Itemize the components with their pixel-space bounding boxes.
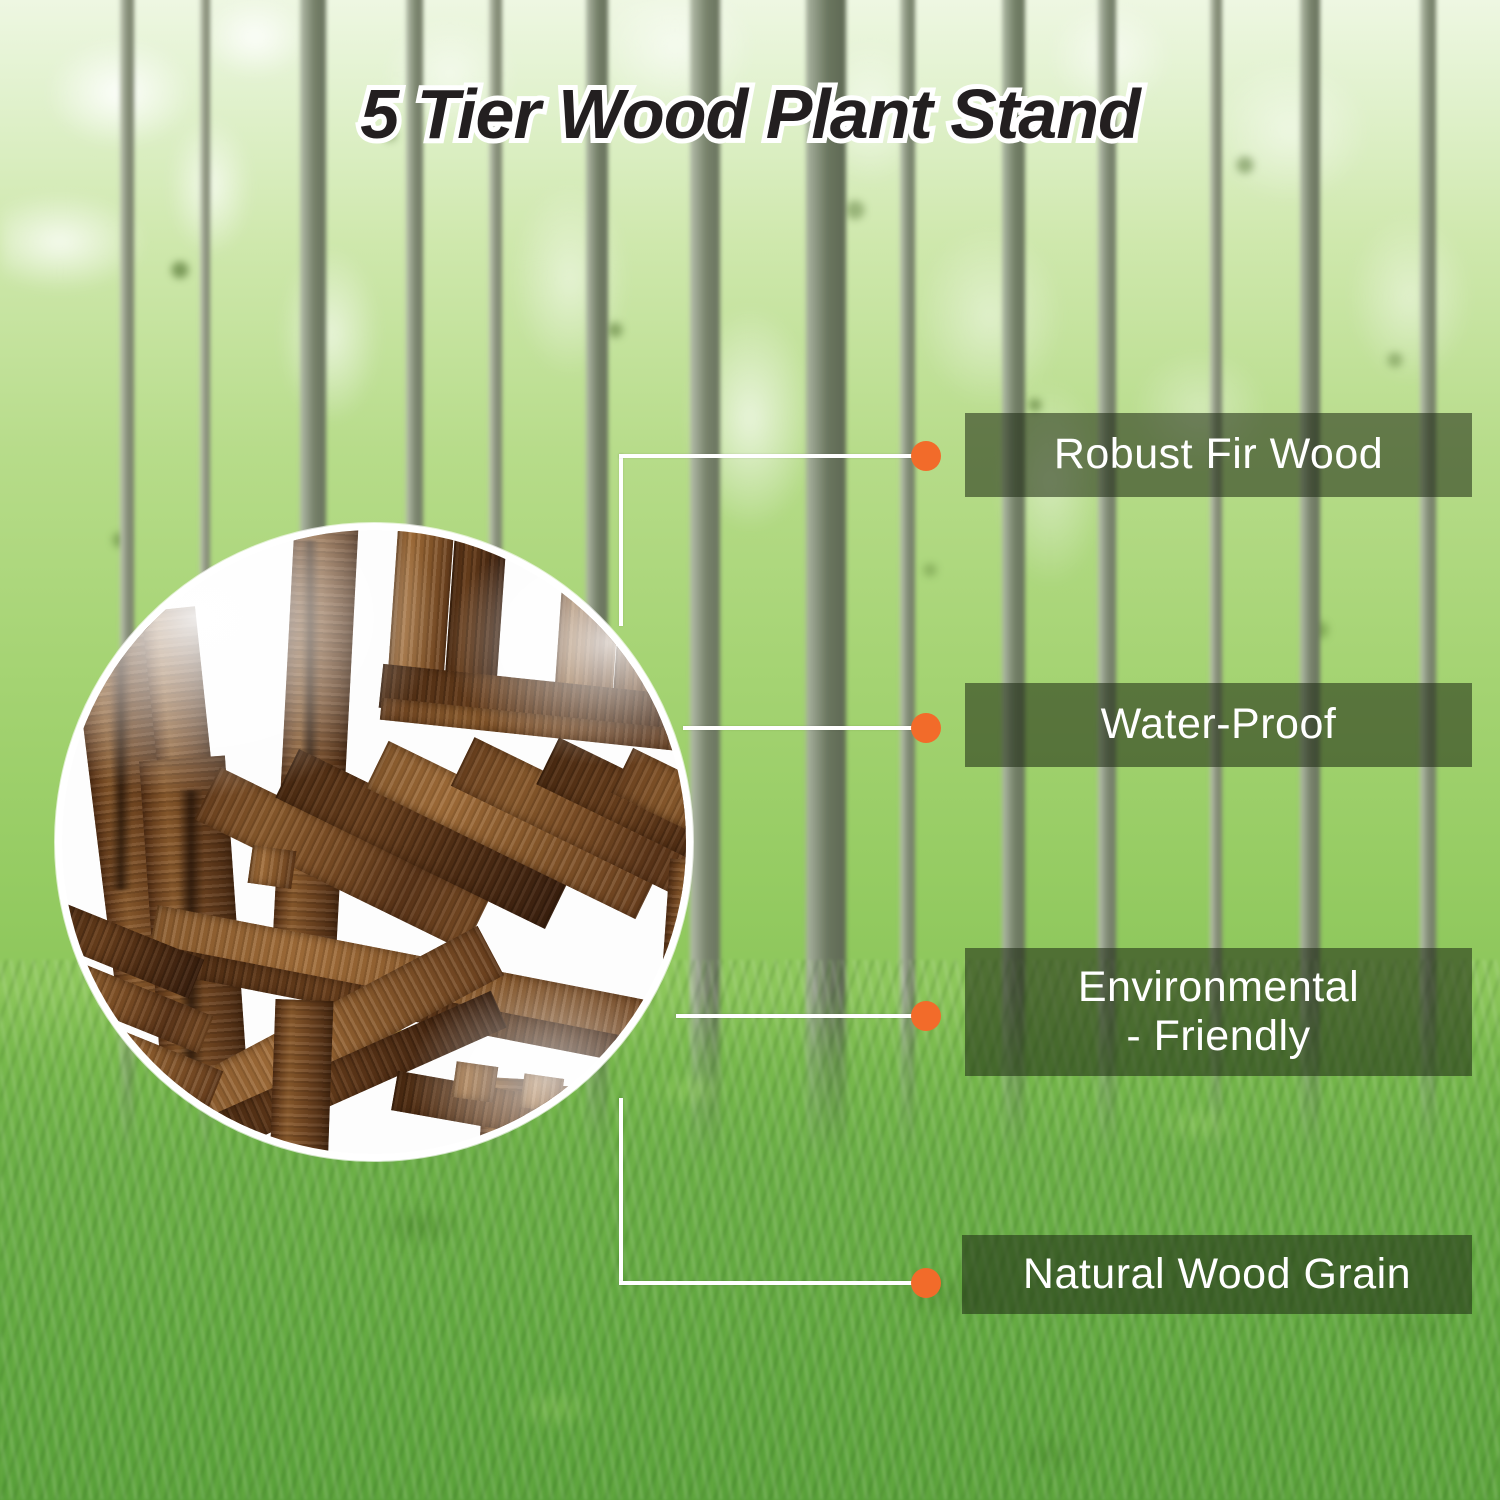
connector-line-water-proof xyxy=(683,726,925,730)
page-title: 5 Tier Wood Plant Stand xyxy=(0,74,1500,154)
feature-text-line-2: - Friendly xyxy=(1126,1012,1310,1061)
feature-label-environmental-friendly: Environmental - Friendly xyxy=(965,948,1472,1076)
callout-dot-water-proof xyxy=(911,713,941,743)
callout-dot-environmental-friendly xyxy=(911,1001,941,1031)
feature-text: Natural Wood Grain xyxy=(1023,1250,1411,1299)
wood-tab xyxy=(520,1073,564,1112)
feature-label-robust-fir-wood: Robust Fir Wood xyxy=(965,413,1472,497)
wood-char-mark xyxy=(110,620,132,890)
feature-label-water-proof: Water-Proof xyxy=(965,683,1472,767)
feature-text-line-1: Environmental xyxy=(1078,963,1359,1012)
product-photo-circle xyxy=(55,523,693,1161)
connector-line-natural-wood-grain-horizontal xyxy=(619,1281,925,1285)
feature-label-natural-wood-grain: Natural Wood Grain xyxy=(962,1235,1472,1314)
connector-line-environmental-friendly xyxy=(676,1014,925,1018)
connector-line-robust-fir-wood-horizontal xyxy=(619,454,925,458)
wood-slat xyxy=(444,530,508,692)
callout-dot-natural-wood-grain xyxy=(911,1268,941,1298)
feature-text: Robust Fir Wood xyxy=(1054,430,1383,479)
connector-line-natural-wood-grain-vertical xyxy=(619,1098,623,1285)
wood-tab xyxy=(248,845,297,889)
feature-text: Water-Proof xyxy=(1101,700,1337,749)
wood-post xyxy=(654,859,686,1092)
product-photo xyxy=(62,530,686,1154)
wood-tab xyxy=(452,1061,499,1102)
wood-post xyxy=(269,999,334,1154)
callout-dot-robust-fir-wood xyxy=(911,441,941,471)
connector-line-robust-fir-wood-vertical xyxy=(619,454,623,626)
